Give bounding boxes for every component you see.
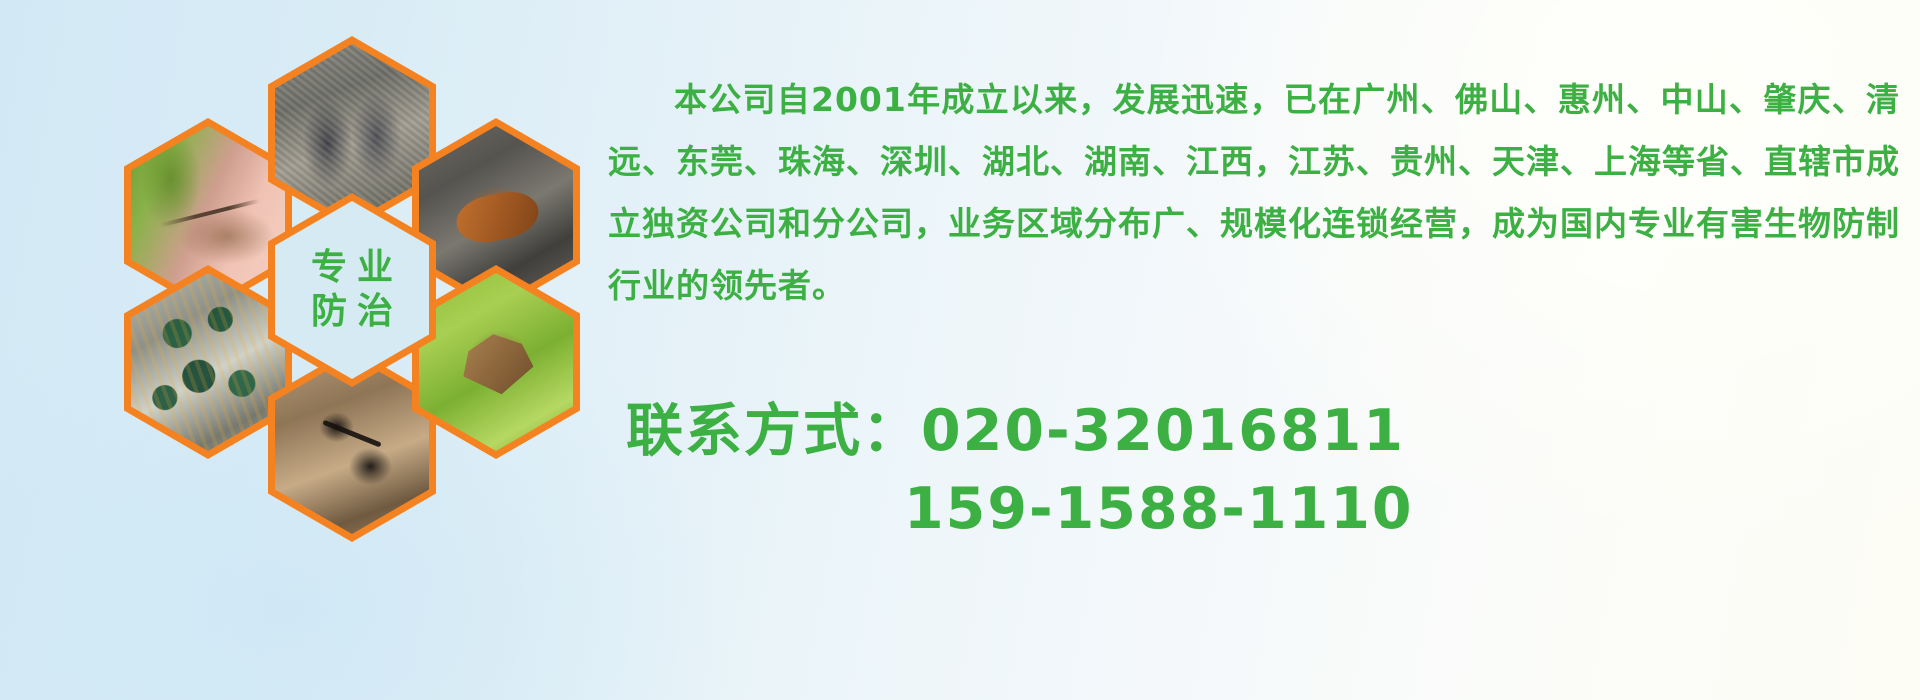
contact-label: 联系方式： — [626, 398, 921, 464]
hexagon-photo-cluster: 专业 防治 — [92, 18, 612, 580]
center-label-line2: 防治 — [301, 293, 403, 331]
center-label-line1: 专业 — [301, 249, 403, 287]
stink-bug-photo — [419, 273, 573, 451]
hex-cell-flies[interactable] — [124, 265, 292, 459]
contact-line-primary[interactable]: 联系方式：020-32016811 — [608, 392, 1900, 470]
contact-phone-primary[interactable]: 020-32016811 — [921, 398, 1405, 464]
center-label-stack: 专业 防治 — [275, 201, 429, 379]
contact-block: 联系方式：020-32016811 159-1588-1110 — [608, 392, 1900, 548]
hex-cell-flies-inner — [131, 273, 285, 451]
hex-cell-center-label: 专业 防治 — [268, 193, 436, 387]
hex-cell-stink-bug[interactable] — [412, 265, 580, 459]
flies-photo — [131, 273, 285, 451]
hex-cell-stink-bug-inner — [419, 273, 573, 451]
company-description: 本公司自2001年成立以来，发展迅速，已在广州、佛山、惠州、中山、肇庆、清远、东… — [608, 69, 1900, 317]
contact-phone-secondary[interactable]: 159-1588-1110 — [904, 476, 1414, 542]
contact-line-secondary[interactable]: 159-1588-1110 — [608, 470, 1900, 548]
content-column: 本公司自2001年成立以来，发展迅速，已在广州、佛山、惠州、中山、肇庆、清远、东… — [608, 0, 1908, 700]
promo-banner: 专业 防治 本公司自2001年成立以来，发展迅速，已在广州、佛山、惠州、中山、肇… — [0, 0, 1920, 700]
hex-cell-center-inner: 专业 防治 — [275, 201, 429, 379]
